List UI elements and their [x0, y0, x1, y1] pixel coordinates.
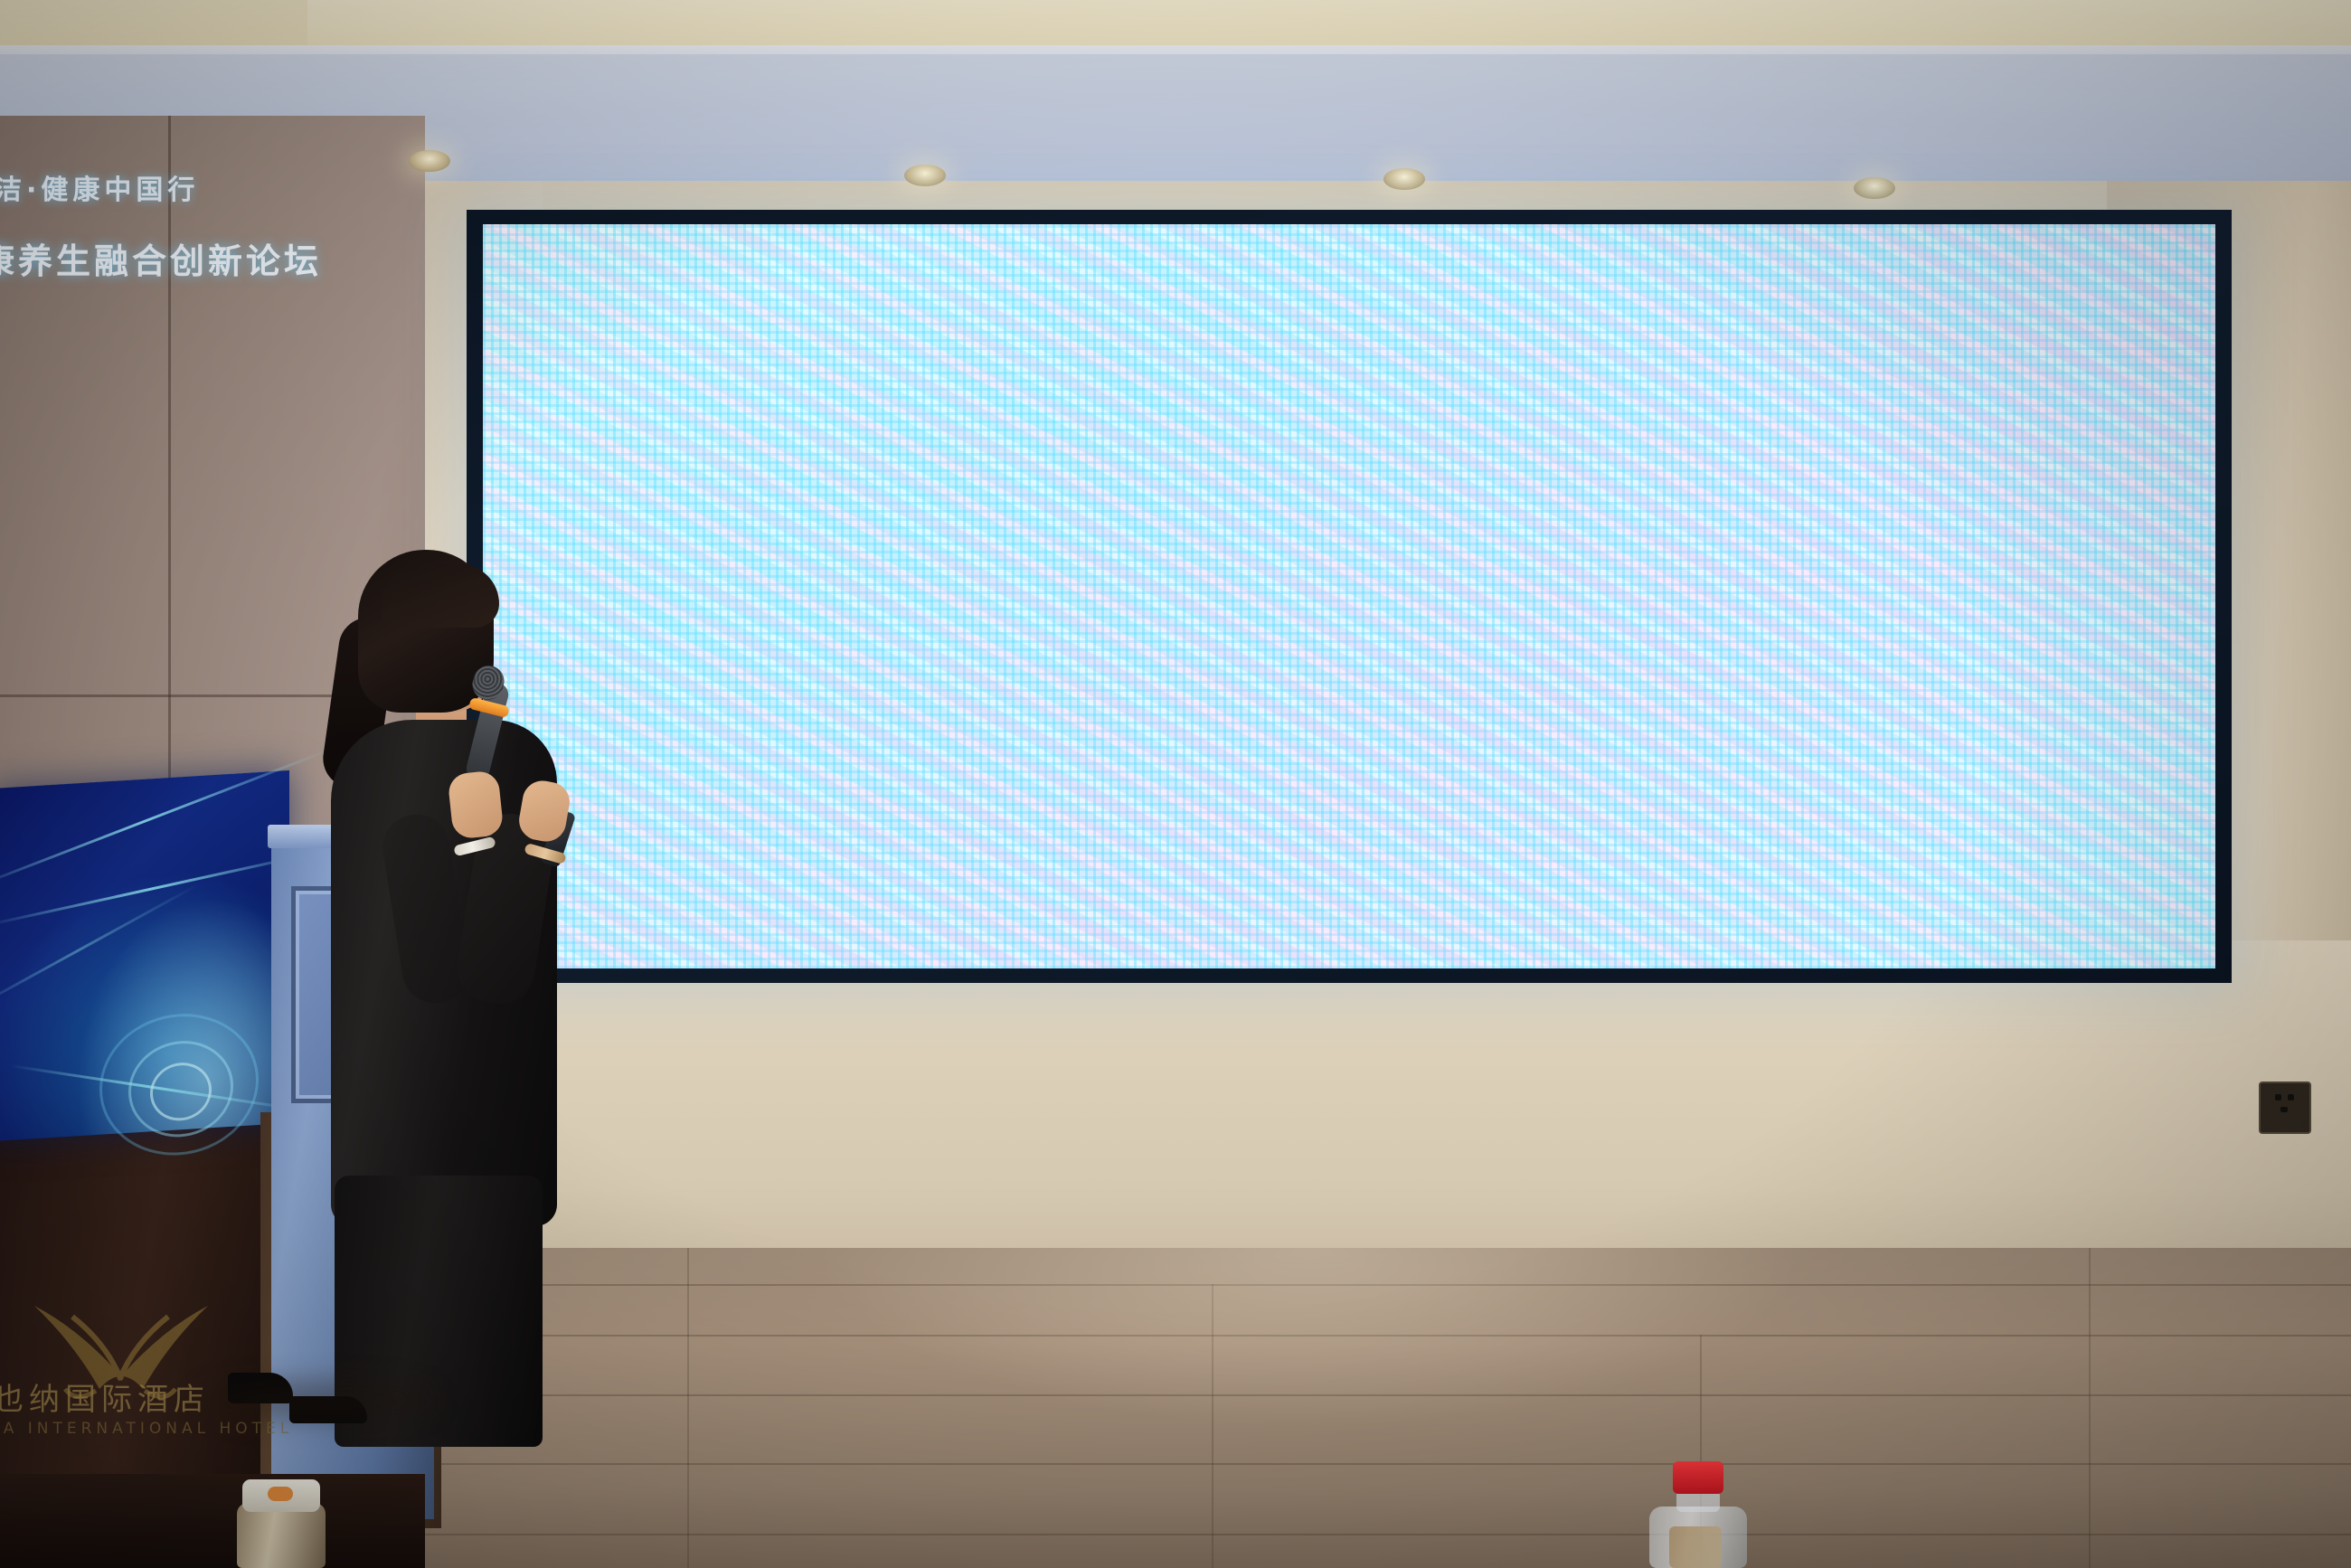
flow-arrow-2-icon — [1183, 873, 1217, 896]
ikb-node: IκB — [1311, 624, 1335, 644]
stage-label-fragmentation: Fragmentation — [946, 564, 1032, 578]
event-banner — [0, 770, 289, 1141]
presentation-slide: 灵芝孢子油的功效与作用 一、辅助治疗肿瘤作用（机理）——细胞凋亡 Apoptos… — [483, 224, 2215, 968]
foreground-table-left — [0, 1474, 425, 1568]
tumor-cell-image — [637, 822, 756, 935]
bid-node: Bid — [1581, 546, 1608, 568]
tag-apoptotic-body: 凋亡小体 — [1054, 571, 1145, 602]
apoptotic-bodies-icon — [1101, 481, 1195, 559]
label-bax: Bax — [1420, 555, 1440, 567]
wall-outlet[interactable] — [2259, 1082, 2311, 1134]
up-arrow-icon — [1521, 851, 1532, 909]
apoptosis-footer-text: 维持组织稳态, 清除异常细胞，防止肿瘤发生 — [666, 672, 1190, 698]
flow-step-2-text: 肿瘤细胞的异常增殖 — [1224, 867, 1444, 902]
flip-node: FLIP — [1635, 479, 1695, 503]
led-display: 灵芝孢子油的功效与作用 一、辅助治疗肿瘤作用（机理）——细胞凋亡 Apoptos… — [483, 224, 2215, 968]
title-divider — [496, 333, 2203, 335]
highlight-caspase-family: Caspase 家族蛋白 — [1691, 534, 1791, 583]
presenter-fringe — [382, 564, 499, 628]
floor-light-reflection — [814, 1248, 1808, 1429]
highlight-bcl2-family: Bcl-2 家族蛋白 — [1396, 595, 1492, 645]
label-bak: Bak — [1432, 539, 1453, 551]
flow-arrow-1-icon — [774, 873, 808, 896]
highlight-p53-family: p53家族 蛋白 — [1203, 543, 1297, 592]
down-arrow-icon — [1582, 851, 1593, 909]
slide-title: 灵芝孢子油的功效与作用 — [483, 248, 2215, 329]
ceiling-downlight — [1383, 168, 1425, 190]
hotel-name-chinese: 也纳国际酒店 — [0, 1374, 210, 1419]
apoptosis-heading: Apoptosis — [689, 450, 820, 477]
flow-step-1-text: 细胞凋亡的调控机制常常失调 — [816, 867, 1133, 902]
label-chemotherapy: Chemotherapy — [1275, 429, 1349, 440]
flip-inhibition-icon — [1586, 483, 1640, 501]
apoptosis-cell-stages — [693, 481, 1172, 559]
slide-subtitle: 一、辅助治疗肿瘤作用（机理）——细胞凋亡 — [483, 347, 2215, 407]
ub-node: Ub — [1374, 573, 1400, 597]
foreground-jar — [233, 1479, 329, 1568]
bcl2-bax-note: Bcl-2和Bcl-XL是抗凋亡的成 员 Bax是促凋亡的成员 — [1320, 647, 1559, 714]
bclxl-node: Bcl-XL — [1488, 514, 1525, 539]
radiation-bolt-icon — [1297, 445, 1327, 496]
bclxl-label: Bcl-XL — [1488, 522, 1525, 531]
label-dna-damage: DNA damage — [1295, 490, 1381, 504]
foreground-water-bottle — [1646, 1459, 1751, 1568]
procaspase8-icon — [1548, 479, 1586, 503]
label-caspase8: Caspase-8 — [1525, 508, 1581, 521]
ceiling-downlight — [409, 150, 450, 172]
fadd-node: FADD — [1528, 474, 1548, 505]
flip-label: FLIP — [1635, 486, 1695, 497]
label-intrinsic-pathway: Intrinsic pathway — [1253, 405, 1368, 419]
tag-normal-cell: 正常细胞 — [698, 571, 788, 602]
flow-arrow-3-icon — [1633, 873, 1667, 896]
apoptosis-panel: Apoptosis — [664, 432, 1192, 707]
stage-label-condensation: Condensation — [826, 564, 907, 578]
label-extrinsic-pathway: Extrinsic pathway — [1593, 407, 1711, 420]
bottom-flow-row: 肿瘤细胞 细胞凋亡的调控机制常常失调 肿瘤细胞的异常增殖 — [637, 822, 2174, 949]
outline-caspase-list: Caspase-9 Caspase-3 — [1698, 597, 1808, 694]
ikb-label: IκB — [1311, 630, 1335, 638]
iaps-node: IAPs — [1579, 615, 1622, 638]
tag-spore-oil: 灵芝孢子油 — [1695, 925, 1795, 953]
bcl2-node: Bcl-2 — [1452, 519, 1485, 543]
led-display-bezel: 灵芝孢子油的功效与作用 一、辅助治疗肿瘤作用（机理）——细胞凋亡 Apoptos… — [467, 210, 2232, 983]
fadd-label: FADD — [1528, 486, 1548, 493]
hotel-name-english: NA INTERNATIONAL HOTEL — [0, 1420, 293, 1438]
condensation-cell-icon — [837, 481, 937, 559]
bcl2-label: Bcl-2 — [1452, 526, 1485, 535]
tag-tumor-cell: 肿瘤细胞 — [642, 932, 722, 959]
ceiling-downlight — [1854, 177, 1895, 199]
slide-page-number: 22 — [2169, 934, 2192, 956]
ceiling-downlight — [904, 165, 946, 186]
banner-line-2: 康养生融合创新论坛 — [0, 233, 322, 283]
p53-node: p53 — [1376, 521, 1425, 555]
bid-label: Bid — [1581, 553, 1608, 562]
apoptosis-pathway-diagram: Intrinsic pathway Extrinsic pathway Chem… — [1206, 405, 1758, 704]
conference-room-photo: 灵芝孢子油的功效与作用 一、辅助治疗肿瘤作用（机理）——细胞凋亡 Apoptos… — [0, 0, 2351, 1568]
red-arrow-2-icon — [980, 640, 1024, 664]
red-arrow-1-icon — [814, 640, 857, 664]
presenter-floor-shadow — [199, 1380, 434, 1422]
spore-oil-capsules-image — [1682, 817, 1799, 927]
p53-label: p53 — [1376, 534, 1425, 543]
label-caspase3: Caspase-3 — [1651, 582, 1708, 595]
normal-cell-icon — [693, 481, 801, 559]
fragmentation-cell-icon — [969, 481, 1069, 559]
iaps-label: IAPs — [1579, 622, 1622, 632]
presenter-hand-holding-mic — [447, 770, 504, 839]
ub-label: Ub — [1374, 581, 1400, 590]
label-trail: TRAIL — [1559, 425, 1594, 438]
banner-line-1: 洁·健康中国行 — [0, 167, 199, 207]
presenter — [298, 543, 642, 1447]
pro-caspase3-node-icon — [1617, 541, 1648, 561]
